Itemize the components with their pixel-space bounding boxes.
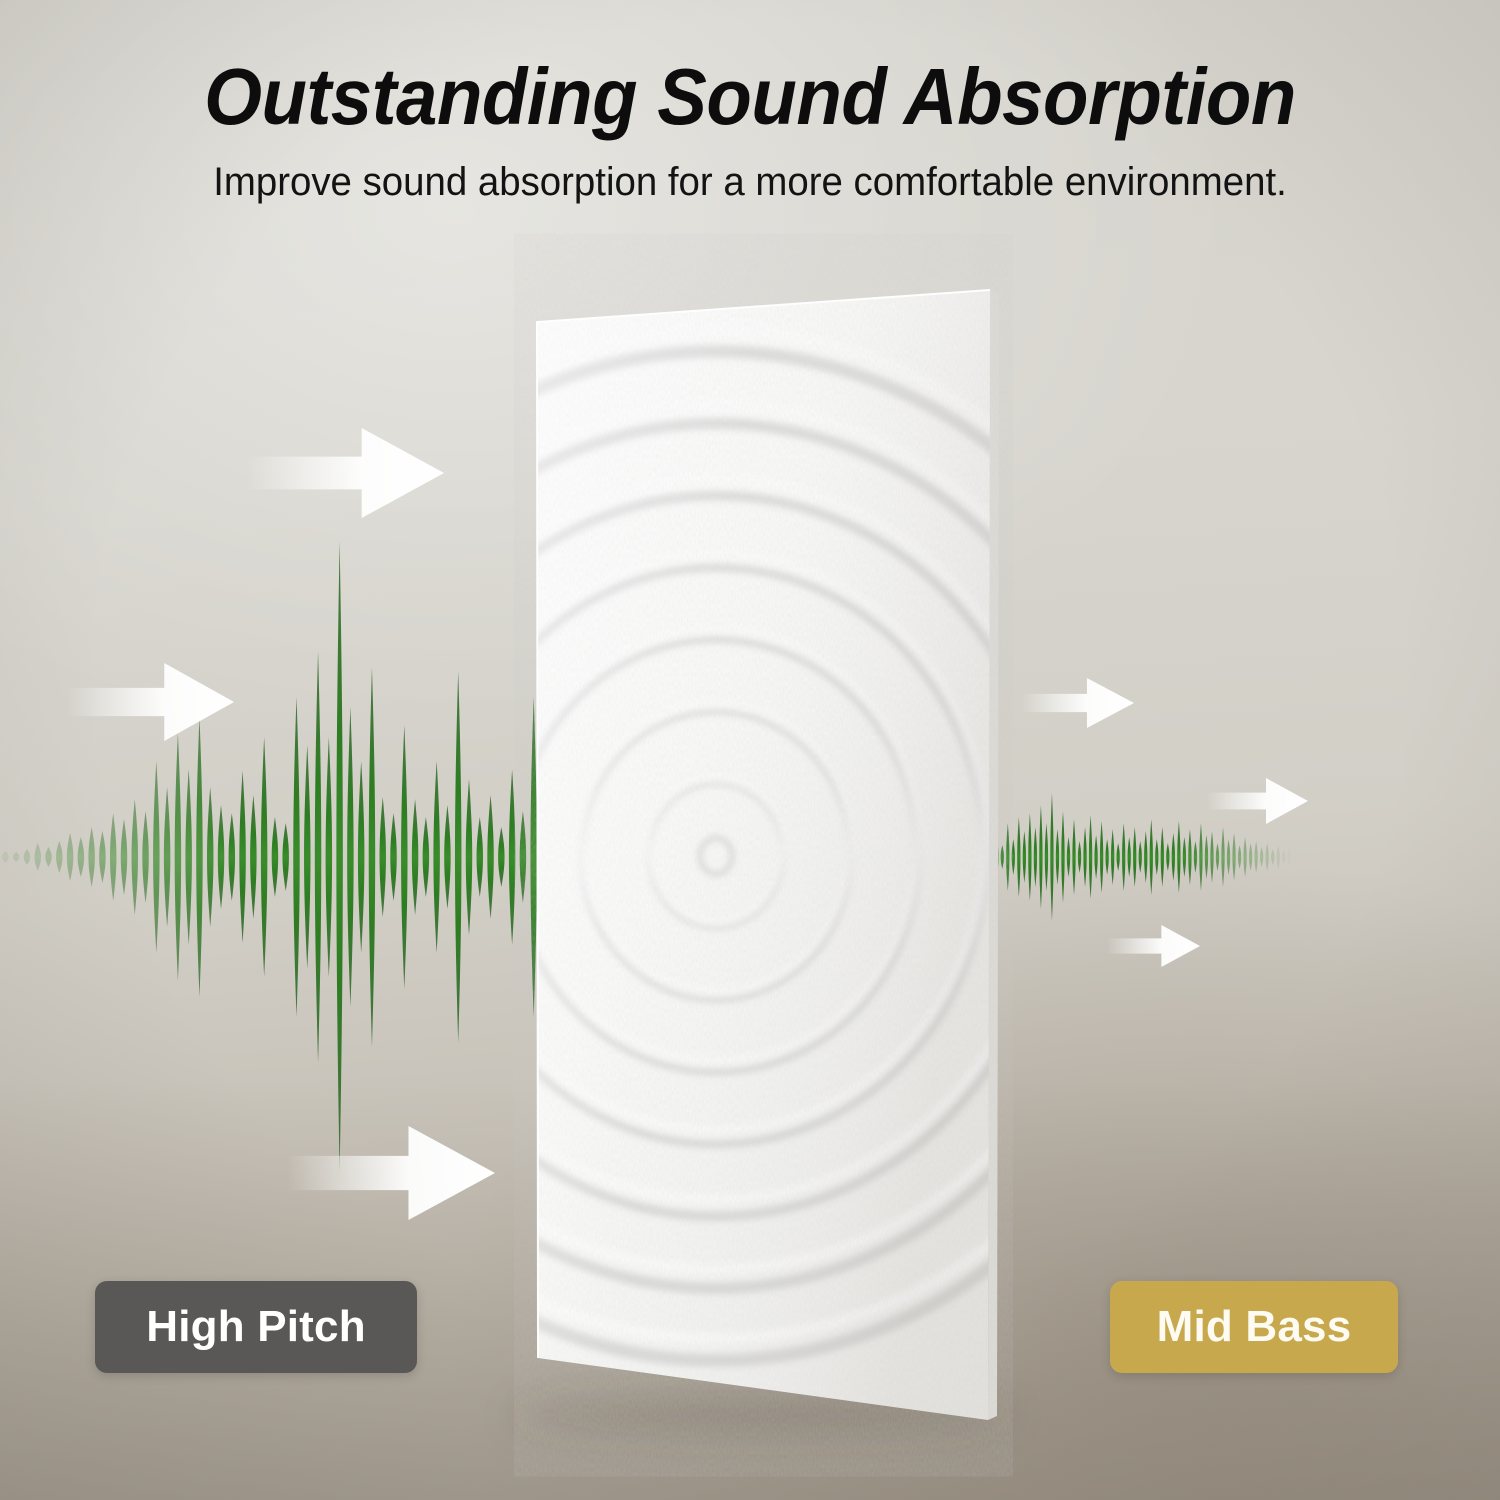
page-subtitle: Improve sound absorption for a more comf… [30, 138, 1470, 204]
status-badge-high-pitch[interactable]: High Pitch [95, 1281, 417, 1373]
badge-high-pitch-label: High Pitch [146, 1302, 366, 1352]
page-title: Outstanding Sound Absorption [53, 0, 1448, 138]
arrow-outgoing-middle-icon [1208, 778, 1308, 824]
arrow-incoming-top-icon [248, 428, 444, 518]
arrow-incoming-middle-icon [68, 663, 234, 741]
arrow-incoming-bottom-icon [289, 1126, 495, 1220]
arrow-outgoing-top-icon [1022, 678, 1134, 728]
product-feature-banner: Outstanding Sound Absorption Improve sou… [0, 0, 1500, 1500]
arrow-outgoing-bottom-icon [1108, 925, 1200, 967]
status-badge-mid-bass[interactable]: Mid Bass [1110, 1281, 1398, 1373]
badge-mid-bass-label: Mid Bass [1157, 1302, 1352, 1352]
header: Outstanding Sound Absorption Improve sou… [0, 0, 1500, 204]
waveform-mid-bass [0, 0, 1500, 1500]
